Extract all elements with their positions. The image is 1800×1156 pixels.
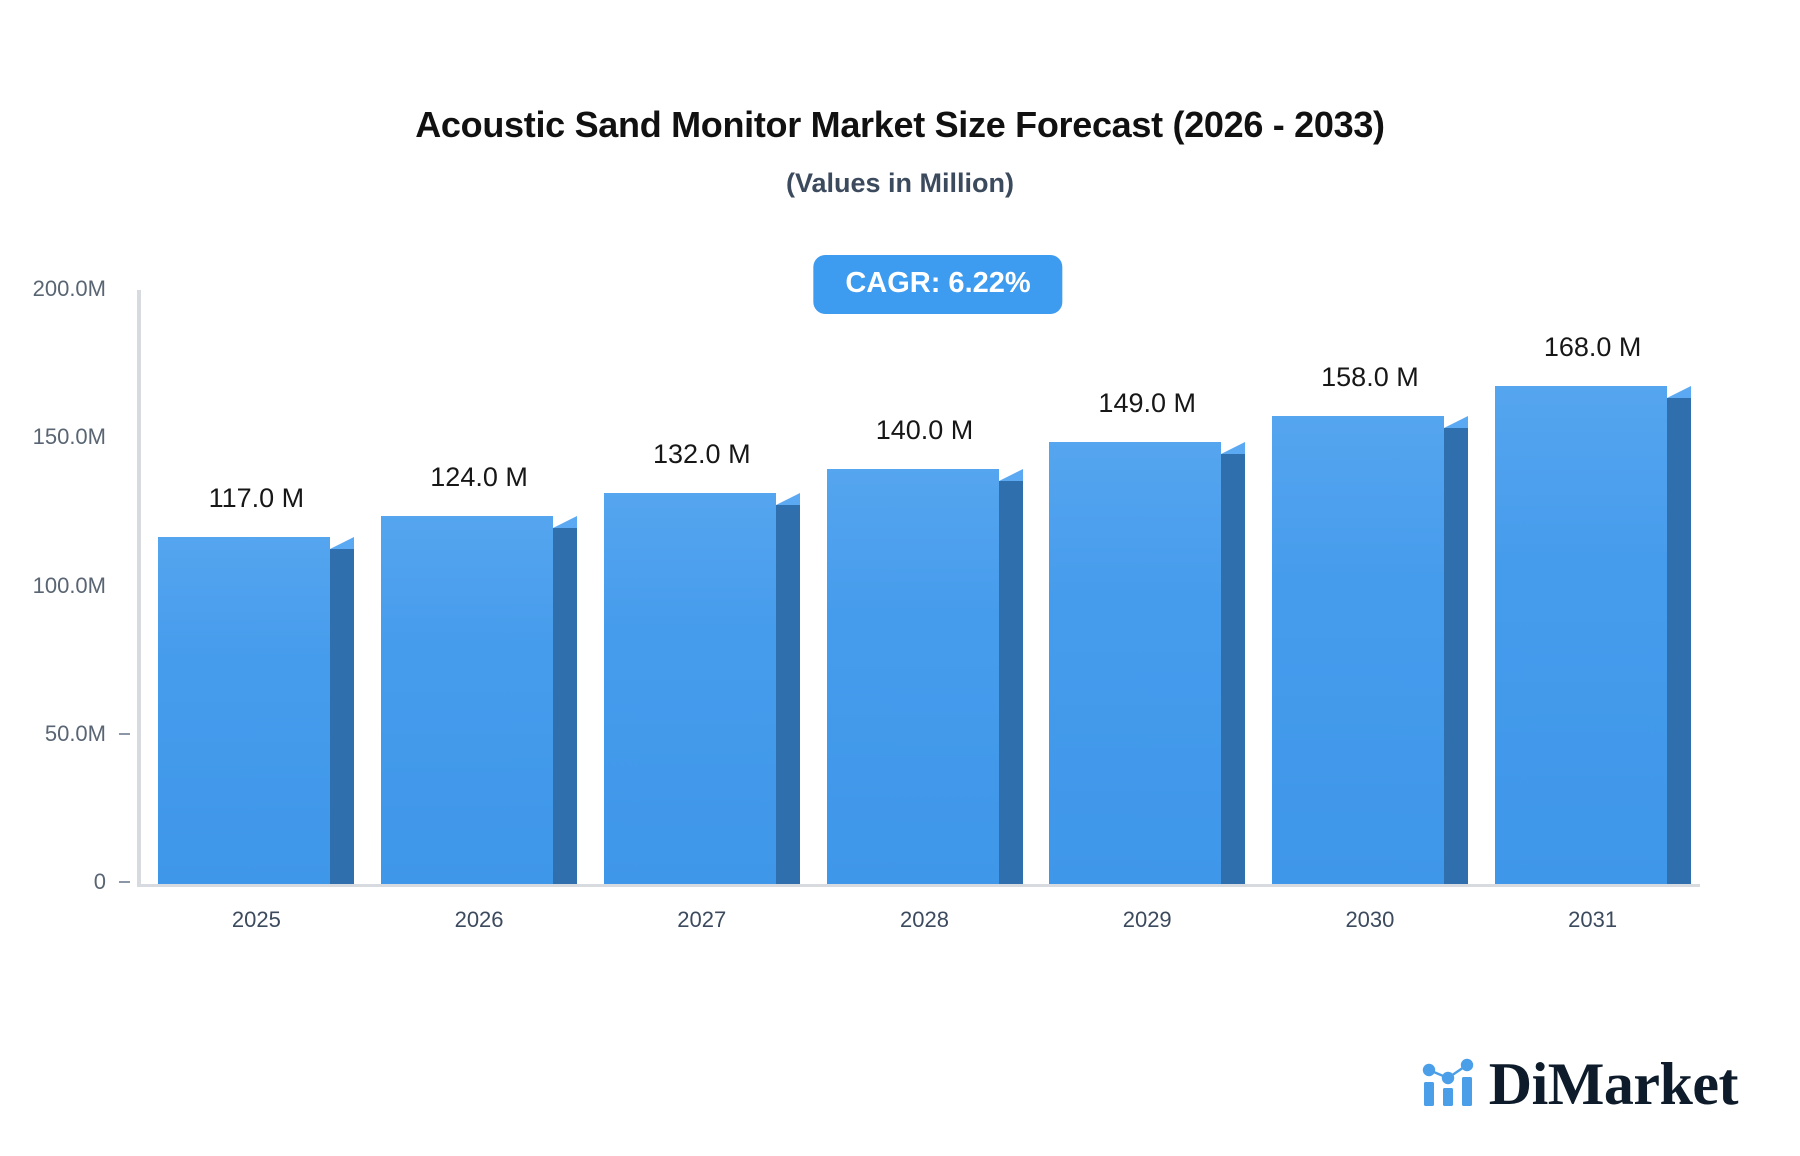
x-axis-label-2025: 2025	[138, 907, 374, 933]
bar-side-face	[1444, 428, 1468, 884]
bar-value-label: 149.0 M	[1029, 388, 1265, 419]
bar-value-label: 124.0 M	[361, 462, 597, 493]
bar-side-face	[776, 505, 800, 884]
bar-side-face	[1667, 398, 1691, 884]
bar-front-face	[604, 493, 776, 884]
y-axis-tick-mark	[119, 585, 130, 587]
y-axis-tick-mark	[119, 436, 130, 438]
y-axis-tick: 0	[0, 869, 130, 895]
bar-2028[interactable]	[827, 469, 999, 884]
bar-2029[interactable]	[1049, 442, 1221, 884]
bar-front-face	[1495, 386, 1667, 884]
y-axis-tick-label: 0	[94, 869, 106, 895]
x-axis-label-2030: 2030	[1252, 907, 1488, 933]
brand-logo: DiMarket	[1421, 1054, 1738, 1114]
bar-value-label: 158.0 M	[1252, 362, 1488, 393]
logo-text: DiMarket	[1489, 1054, 1738, 1114]
bar-top-face	[330, 537, 354, 549]
bar-value-label: 132.0 M	[584, 439, 820, 470]
bar-front-face	[827, 469, 999, 884]
chart-subtitle: (Values in Million)	[0, 168, 1800, 199]
y-axis-tick-label: 50.0M	[45, 721, 106, 747]
x-axis-label-2031: 2031	[1475, 907, 1711, 933]
bar-front-face	[158, 537, 330, 884]
bar-top-face	[999, 469, 1023, 481]
bar-top-face	[1221, 442, 1245, 454]
page-title: Acoustic Sand Monitor Market Size Foreca…	[0, 104, 1800, 146]
y-axis-tick: 200.0M	[0, 276, 130, 302]
bar-2027[interactable]	[604, 493, 776, 884]
bar-side-face	[999, 481, 1023, 884]
bar-chart-icon	[1421, 1056, 1475, 1113]
y-axis-tick-label: 100.0M	[33, 573, 106, 599]
y-axis-tick-label: 200.0M	[33, 276, 106, 302]
bar-front-face	[1272, 416, 1444, 884]
bar-2025[interactable]	[158, 537, 330, 884]
y-axis-tick-label: 150.0M	[33, 424, 106, 450]
bar-top-face	[1444, 416, 1468, 428]
bar-side-face	[330, 549, 354, 884]
bar-value-label: 140.0 M	[807, 415, 1043, 446]
x-axis-label-2026: 2026	[361, 907, 597, 933]
bar-value-label: 117.0 M	[138, 483, 374, 514]
chart-canvas: Acoustic Sand Monitor Market Size Foreca…	[0, 0, 1800, 1156]
plot-area: 117.0 M2025124.0 M2026132.0 M2027140.0 M…	[137, 290, 1700, 885]
bar-value-label: 168.0 M	[1475, 332, 1711, 363]
bar-front-face	[1049, 442, 1221, 884]
bar-front-face	[381, 516, 553, 884]
y-axis-tick-mark	[119, 733, 130, 735]
y-axis-tick-mark	[119, 881, 130, 883]
x-axis-label-2028: 2028	[807, 907, 1043, 933]
y-axis-tick-mark	[119, 288, 130, 290]
bar-side-face	[553, 528, 577, 884]
bar-2026[interactable]	[381, 516, 553, 884]
x-axis-label-2029: 2029	[1029, 907, 1265, 933]
bar-2030[interactable]	[1272, 416, 1444, 884]
x-axis-label-2027: 2027	[584, 907, 820, 933]
bar-top-face	[776, 493, 800, 505]
bar-top-face	[553, 516, 577, 528]
bar-side-face	[1221, 454, 1245, 884]
bar-top-face	[1667, 386, 1691, 398]
y-axis: 050.0M100.0M150.0M200.0M	[0, 0, 130, 1156]
y-axis-tick: 150.0M	[0, 424, 130, 450]
bar-2031[interactable]	[1495, 386, 1667, 884]
y-axis-tick: 50.0M	[0, 721, 130, 747]
y-axis-tick: 100.0M	[0, 573, 130, 599]
